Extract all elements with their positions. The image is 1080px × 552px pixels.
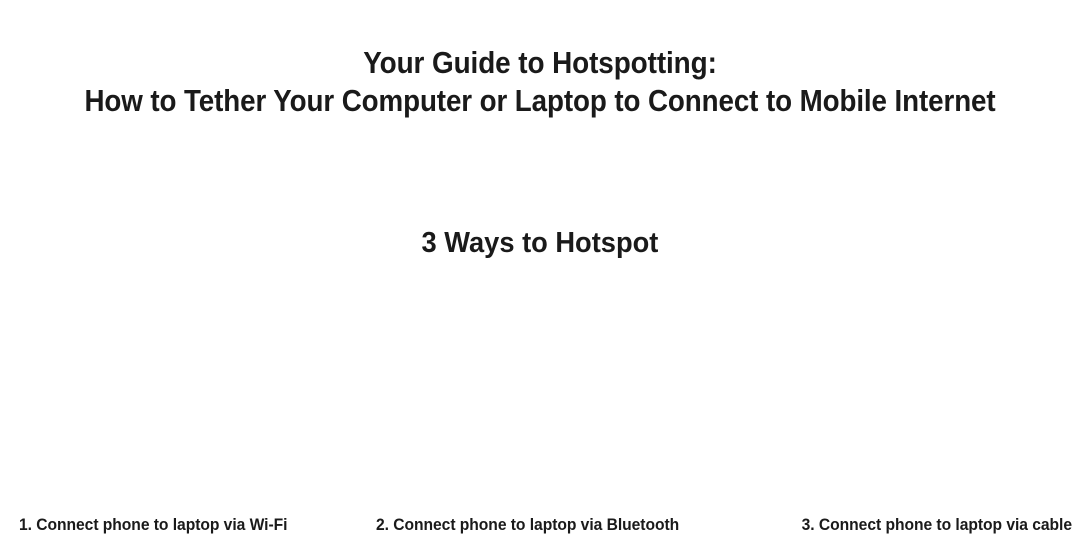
figure-row: 1. Connect phone to laptop via Wi-Fi 2. …: [0, 286, 1080, 536]
figure-wifi-caption: 1. Connect phone to laptop via Wi-Fi: [19, 514, 332, 536]
figure-cable-caption: 3. Connect phone to laptop via cable: [759, 514, 1072, 536]
article-page: Your Guide to Hotspotting: How to Tether…: [0, 0, 1080, 552]
figure-cable-image: [732, 286, 1072, 514]
page-title: Your Guide to Hotspotting: How to Tether…: [0, 44, 1080, 120]
figure-bluetooth: 2. Connect phone to laptop via Bluetooth: [376, 286, 716, 536]
page-title-line-1: Your Guide to Hotspotting:: [54, 44, 1026, 82]
figure-wifi: 1. Connect phone to laptop via Wi-Fi: [19, 286, 359, 536]
section-heading-text: 3 Ways to Hotspot: [422, 224, 659, 262]
figure-cable: 3. Connect phone to laptop via cable: [732, 286, 1072, 536]
figure-bluetooth-image: [376, 286, 716, 514]
page-title-line-2: How to Tether Your Computer or Laptop to…: [57, 82, 1024, 120]
figure-wifi-image: [19, 286, 359, 514]
section-heading: 3 Ways to Hotspot: [0, 224, 1080, 262]
figure-bluetooth-caption: 2. Connect phone to laptop via Bluetooth: [376, 514, 689, 536]
